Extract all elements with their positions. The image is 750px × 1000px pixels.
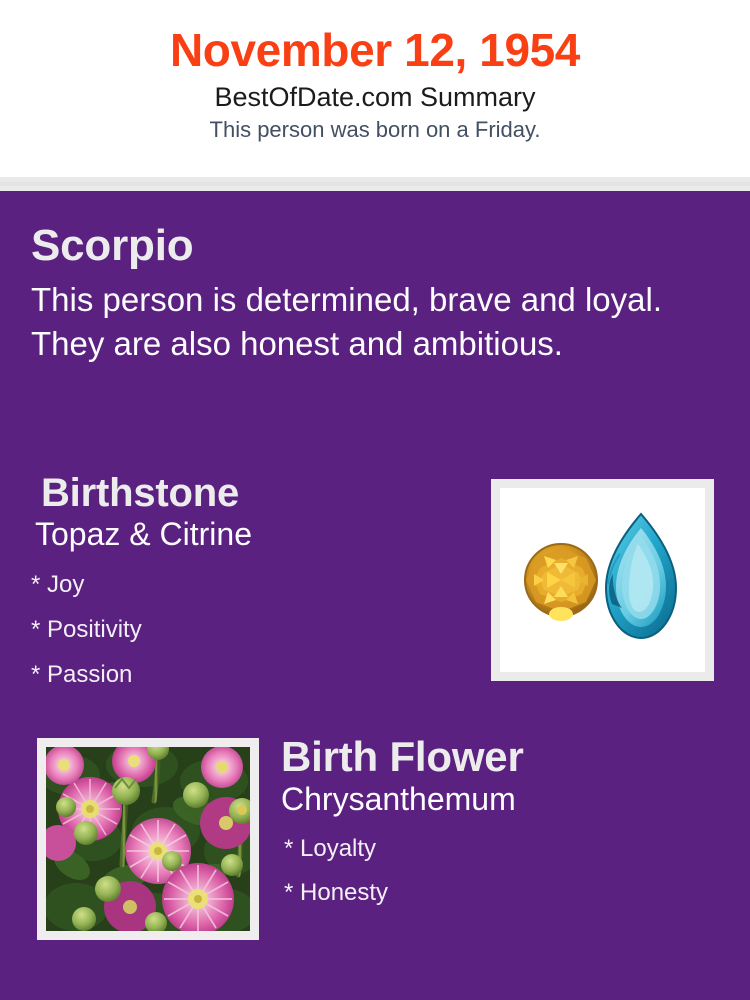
gemstones-illustration: [500, 488, 705, 672]
birthstone-image: [500, 488, 705, 672]
list-item: * Passion: [31, 642, 471, 687]
birth-flower-section: Birth Flower Chrysanthemum * Loyalty * H…: [281, 736, 721, 905]
content-panel: Scorpio This person is determined, brave…: [0, 191, 750, 1000]
header-divider-line: [0, 182, 750, 186]
birthstone-heading: Birthstone: [31, 473, 471, 513]
birth-flower-image-frame: [37, 738, 259, 940]
list-item: * Loyalty: [281, 817, 721, 861]
page-title: November 12, 1954: [0, 0, 750, 76]
birthstone-section: Birthstone Topaz & Citrine * Joy * Posit…: [31, 473, 471, 687]
zodiac-description: This person is determined, brave and loy…: [31, 268, 696, 365]
list-item: * Joy: [31, 552, 471, 597]
chrysanthemum-illustration: [46, 747, 250, 931]
birth-flower-heading: Birth Flower: [281, 736, 721, 778]
site-summary-label: BestOfDate.com Summary: [0, 76, 750, 113]
birthstone-image-frame: [491, 479, 714, 681]
zodiac-section: Scorpio This person is determined, brave…: [31, 224, 701, 365]
list-item: * Honesty: [281, 861, 721, 905]
birth-day-note: This person was born on a Friday.: [0, 112, 750, 142]
summary-card: November 12, 1954 BestOfDate.com Summary…: [0, 0, 750, 1000]
header: November 12, 1954 BestOfDate.com Summary…: [0, 0, 750, 177]
header-divider: [0, 177, 750, 191]
zodiac-sign-heading: Scorpio: [31, 224, 701, 268]
birth-flower-trait-list: * Loyalty * Honesty: [281, 817, 721, 905]
birthstone-names: Topaz & Citrine: [31, 513, 471, 552]
list-item: * Positivity: [31, 597, 471, 642]
birthstone-trait-list: * Joy * Positivity * Passion: [31, 552, 471, 687]
birth-flower-name: Chrysanthemum: [281, 778, 721, 817]
birth-flower-image: [46, 747, 250, 931]
